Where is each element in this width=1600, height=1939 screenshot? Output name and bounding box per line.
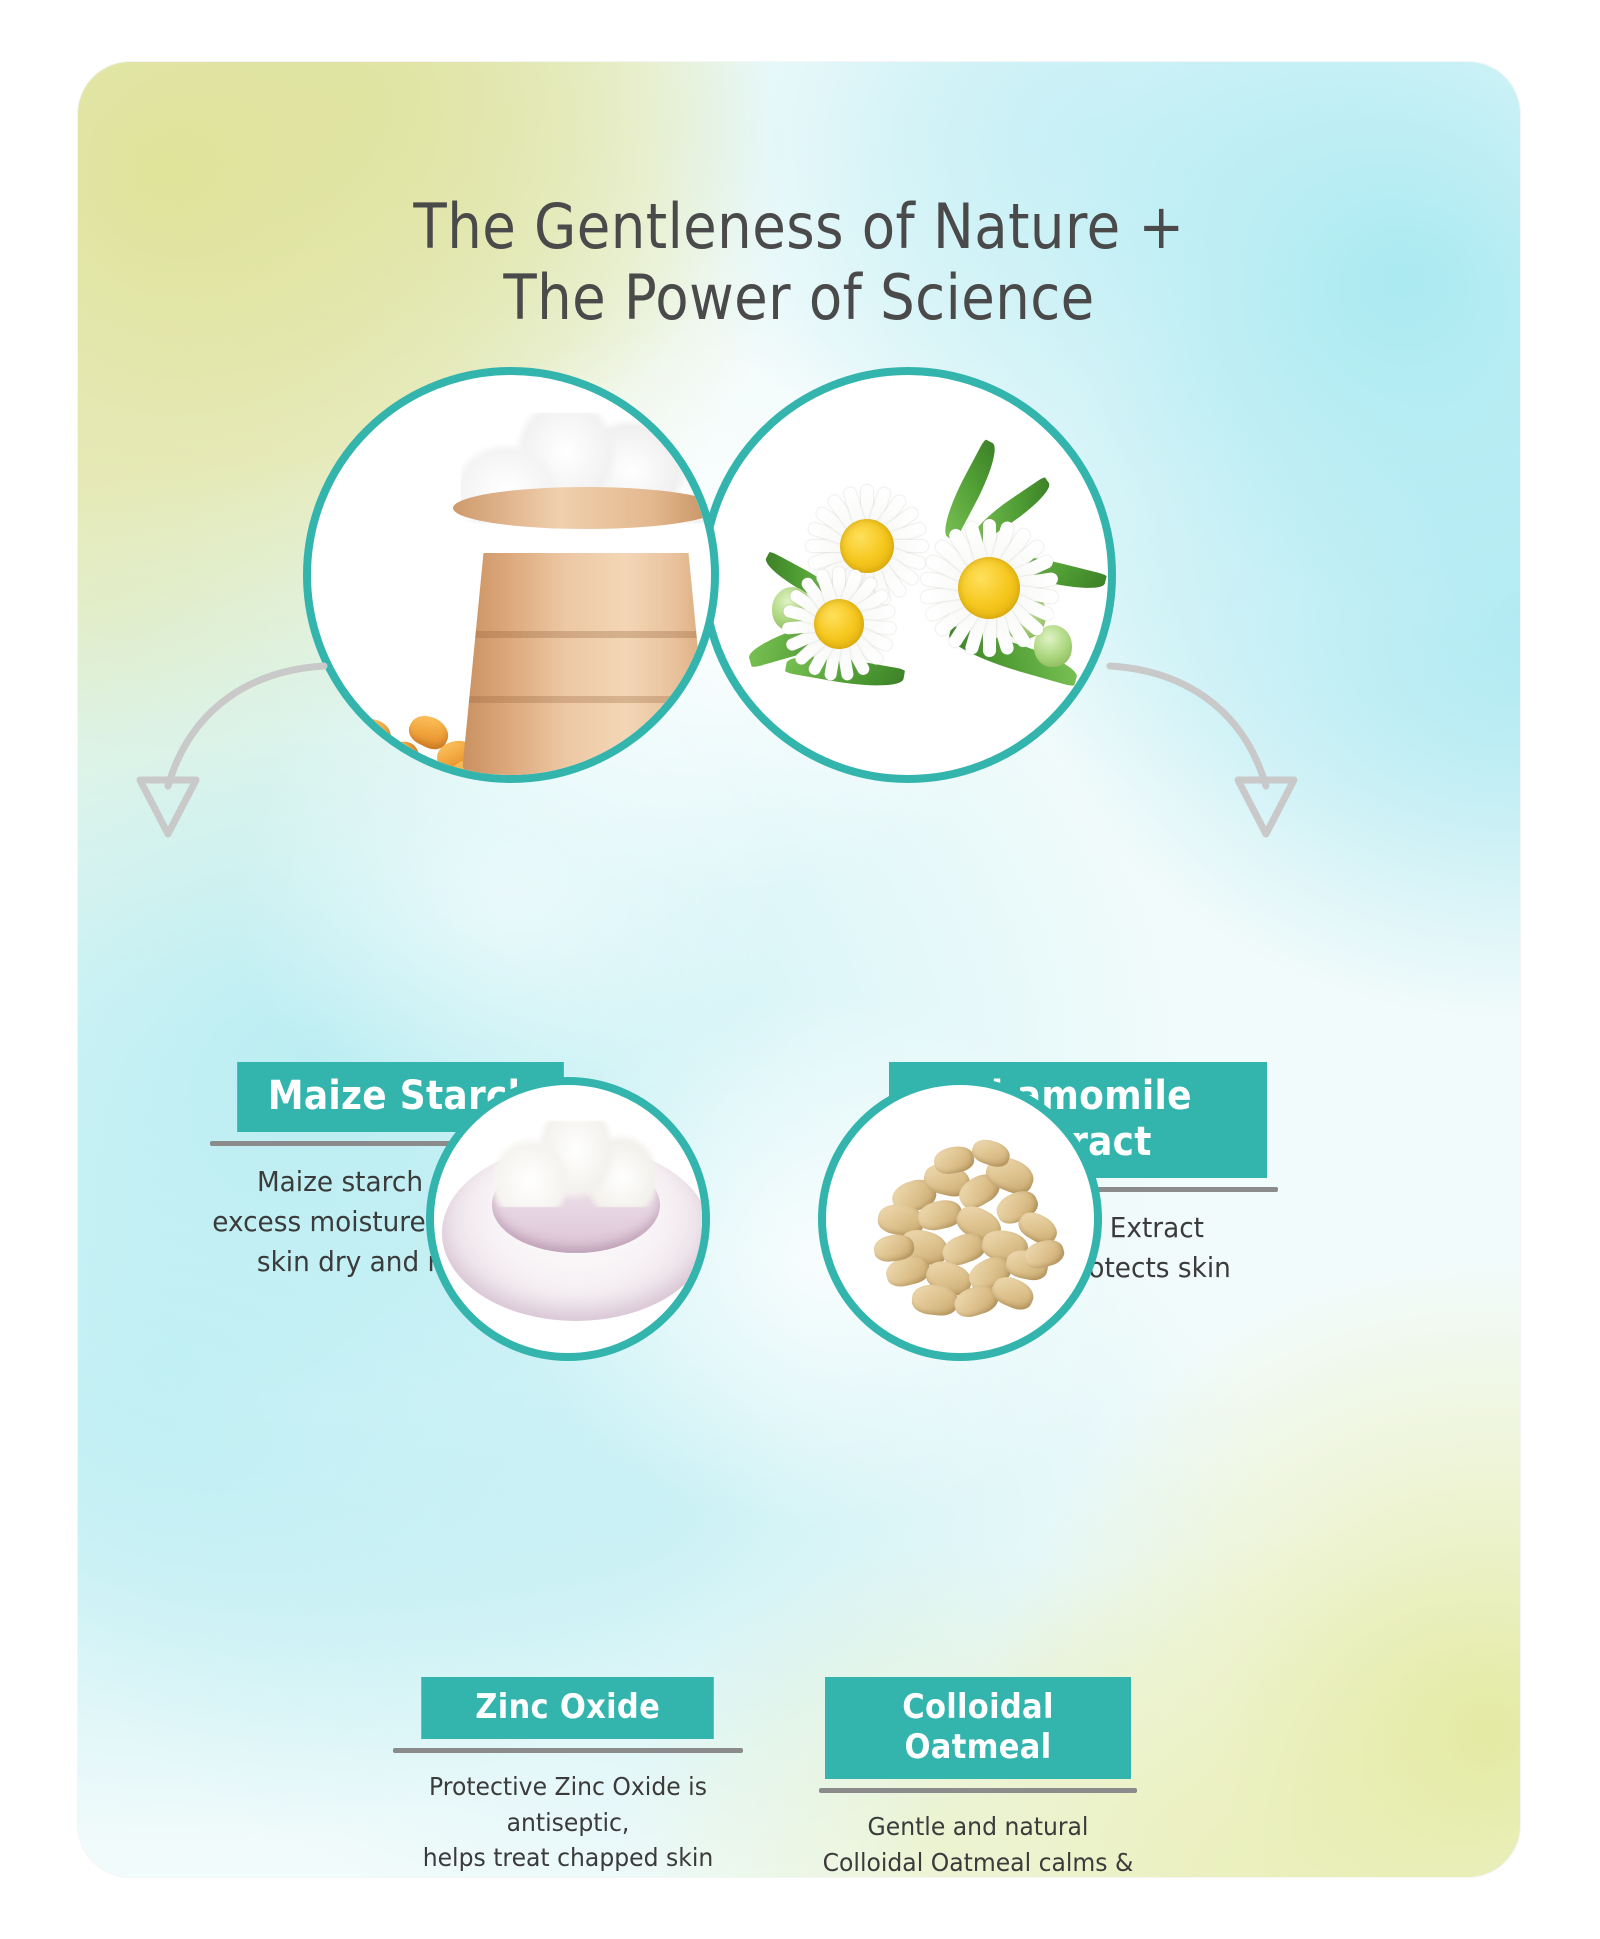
wooden-bowl-graphic <box>461 553 711 783</box>
status-badge: Colloidal Oatmeal <box>825 1677 1131 1779</box>
chamomile-extract-photo <box>700 367 1116 783</box>
divider <box>819 1788 1137 1793</box>
chamomile-flower-graphic <box>904 503 1074 673</box>
zinc-oxide-image <box>434 1085 702 1353</box>
zinc-oxide-photo <box>426 1077 710 1361</box>
maize-starch-image <box>311 375 711 775</box>
chamomile-image <box>708 375 1108 775</box>
bowl-rim-graphic <box>453 487 719 529</box>
status-badge: Zinc Oxide <box>422 1677 715 1739</box>
ingredient-description: Protective Zinc Oxide is antiseptic, hel… <box>380 1769 756 1877</box>
maize-starch-photo <box>303 367 719 783</box>
page-title: The Gentleness of Nature + The Power of … <box>165 192 1434 333</box>
chamomile-flower-graphic <box>768 553 910 695</box>
curved-arrow-down-right-icon <box>1098 652 1328 862</box>
oatmeal-image <box>826 1085 1094 1353</box>
curved-arrow-down-left-icon <box>106 652 336 862</box>
ingredient-block-colloidal-oatmeal: Colloidal Oatmeal Gentle and natural Col… <box>808 1677 1148 1877</box>
divider <box>393 1748 743 1753</box>
zinc-powder-graphic <box>494 1121 658 1207</box>
ingredient-description: Gentle and natural Colloidal Oatmeal cal… <box>818 1809 1138 1877</box>
background-wash-white-highlights <box>78 62 1520 1877</box>
colloidal-oatmeal-photo <box>818 1077 1102 1361</box>
oat-flake-graphic <box>1021 1236 1067 1272</box>
ingredient-block-zinc-oxide: Zinc Oxide Protective Zinc Oxide is anti… <box>368 1677 768 1877</box>
oat-flake-graphic <box>932 1144 976 1177</box>
infographic-card: The Gentleness of Nature + The Power of … <box>78 62 1520 1877</box>
